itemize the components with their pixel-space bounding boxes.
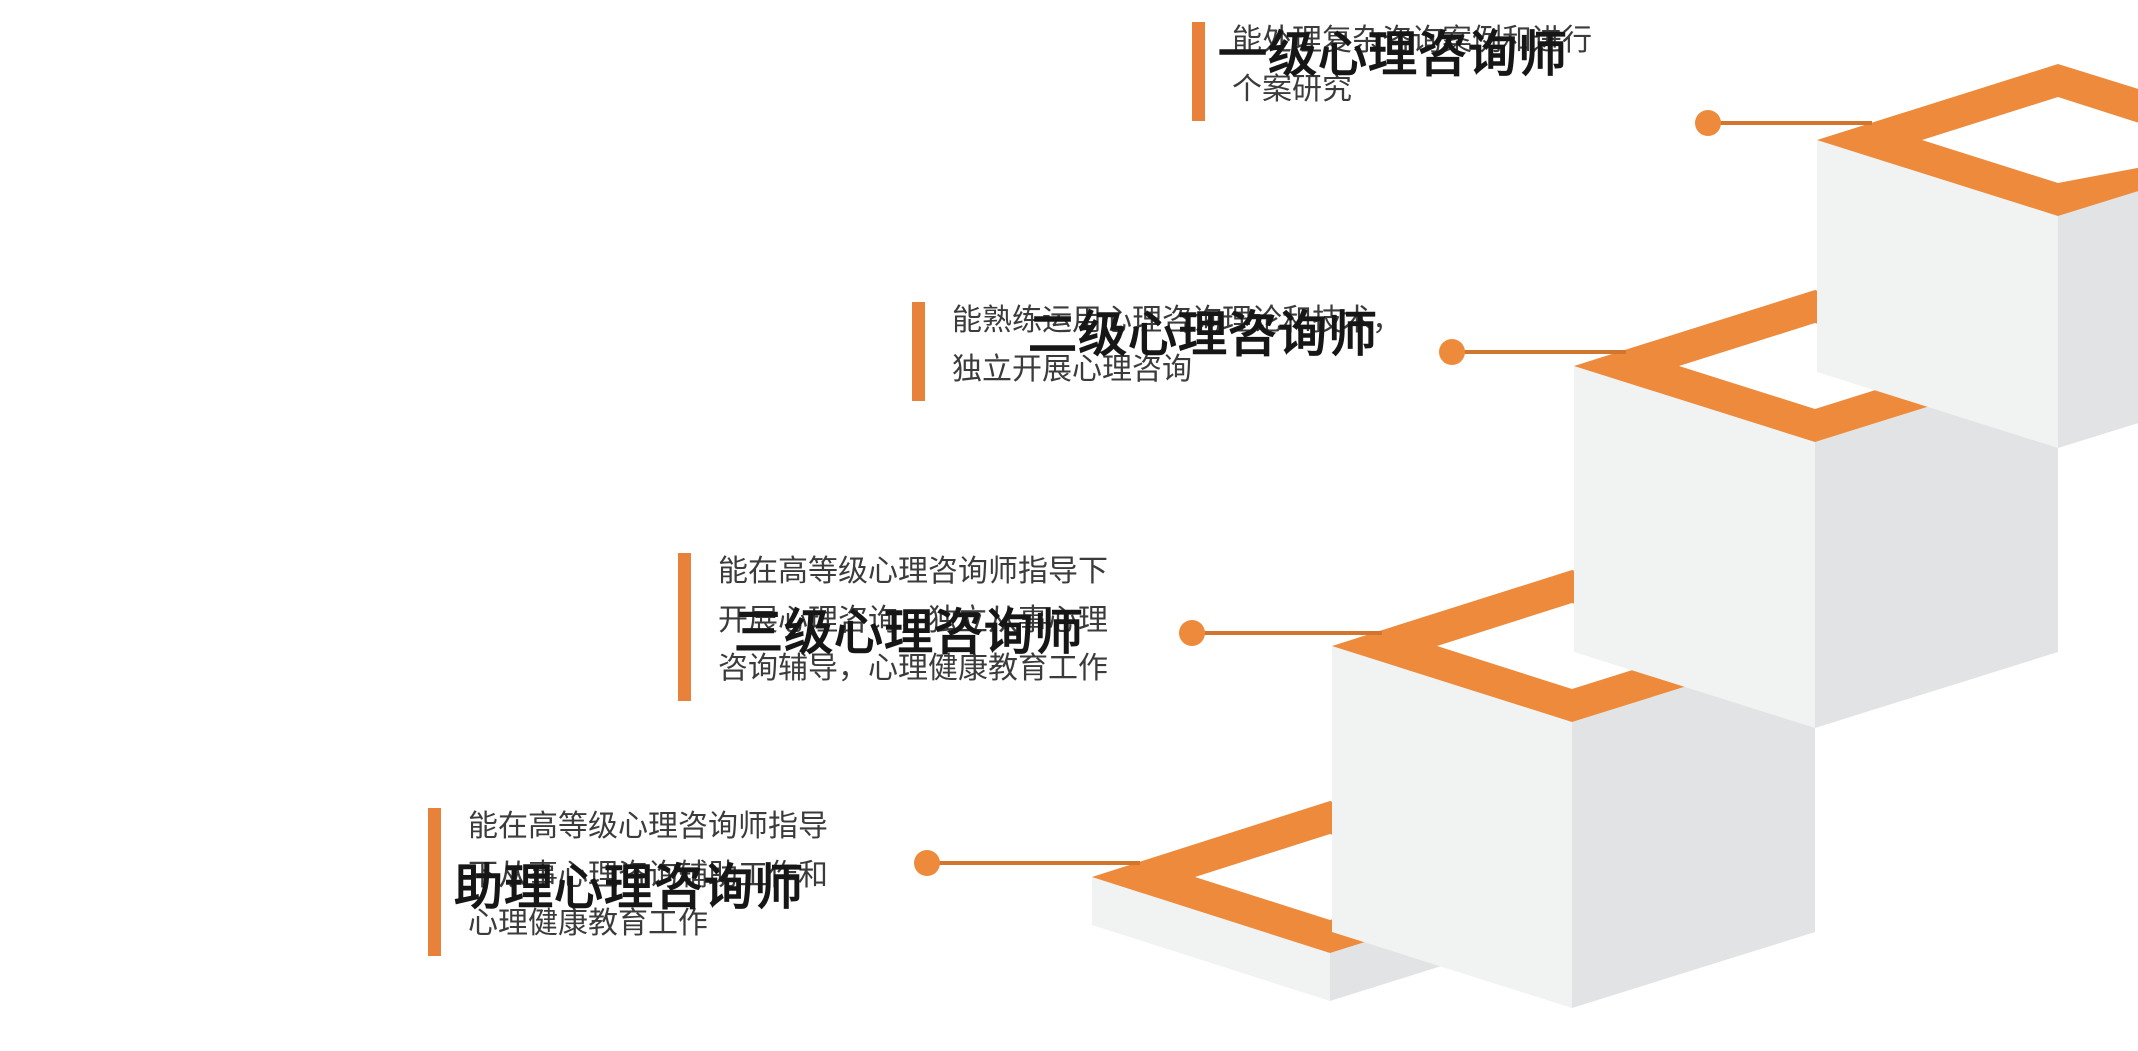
connector-dot-4 <box>914 850 940 876</box>
connector-4 <box>914 850 1140 876</box>
tier-2-group: 二级心理咨询师 能熟练运用心理咨询理论和技术， 独立开展心理咨询 <box>912 302 1402 401</box>
step-block-1 <box>1817 64 2138 448</box>
tier-3-description-line: 能在高等级心理咨询师指导下 <box>718 548 1108 597</box>
connector-2 <box>1439 339 1626 365</box>
tier-2-accent-bar <box>912 302 925 401</box>
step-block-3 <box>1332 570 1815 1008</box>
connector-1 <box>1695 110 1872 136</box>
tier-4-accent-bar <box>428 808 441 956</box>
tier-1-title: 一级心理咨询师 <box>1218 31 1568 80</box>
tier-2-title: 二级心理咨询师 <box>1028 311 1378 360</box>
connector-dot-1 <box>1695 110 1721 136</box>
tier-4-group: 助理心理咨询师 能在高等级心理咨询师指导 下从事心理咨询辅助工作和 心理健康教育… <box>428 808 828 956</box>
connector-dot-3 <box>1179 620 1205 646</box>
connector-3 <box>1179 620 1382 646</box>
connector-dot-2 <box>1439 339 1465 365</box>
step-block-4 <box>1092 801 1572 1001</box>
isometric-staircase-graphic <box>0 0 2138 1051</box>
tier-1-accent-bar <box>1192 22 1205 121</box>
tier-4-title: 助理心理咨询师 <box>454 864 804 913</box>
tier-3-accent-bar <box>678 553 691 701</box>
tier-3-group: 三级心理咨询师 能在高等级心理咨询师指导下 开展心理咨询，独立从事心理 咨询辅导… <box>678 553 1108 701</box>
tier-4-description-line: 能在高等级心理咨询师指导 <box>468 803 828 852</box>
tier-1-group: 一级心理咨询师 能处理复杂咨询案例和进行 个案研究 <box>1192 22 1592 121</box>
step-block-2 <box>1574 290 2058 728</box>
tier-3-title: 三级心理咨询师 <box>734 609 1084 658</box>
infographic-canvas: 一级心理咨询师 能处理复杂咨询案例和进行 个案研究 二级心理咨询师 能熟练运用心… <box>0 0 2138 1051</box>
